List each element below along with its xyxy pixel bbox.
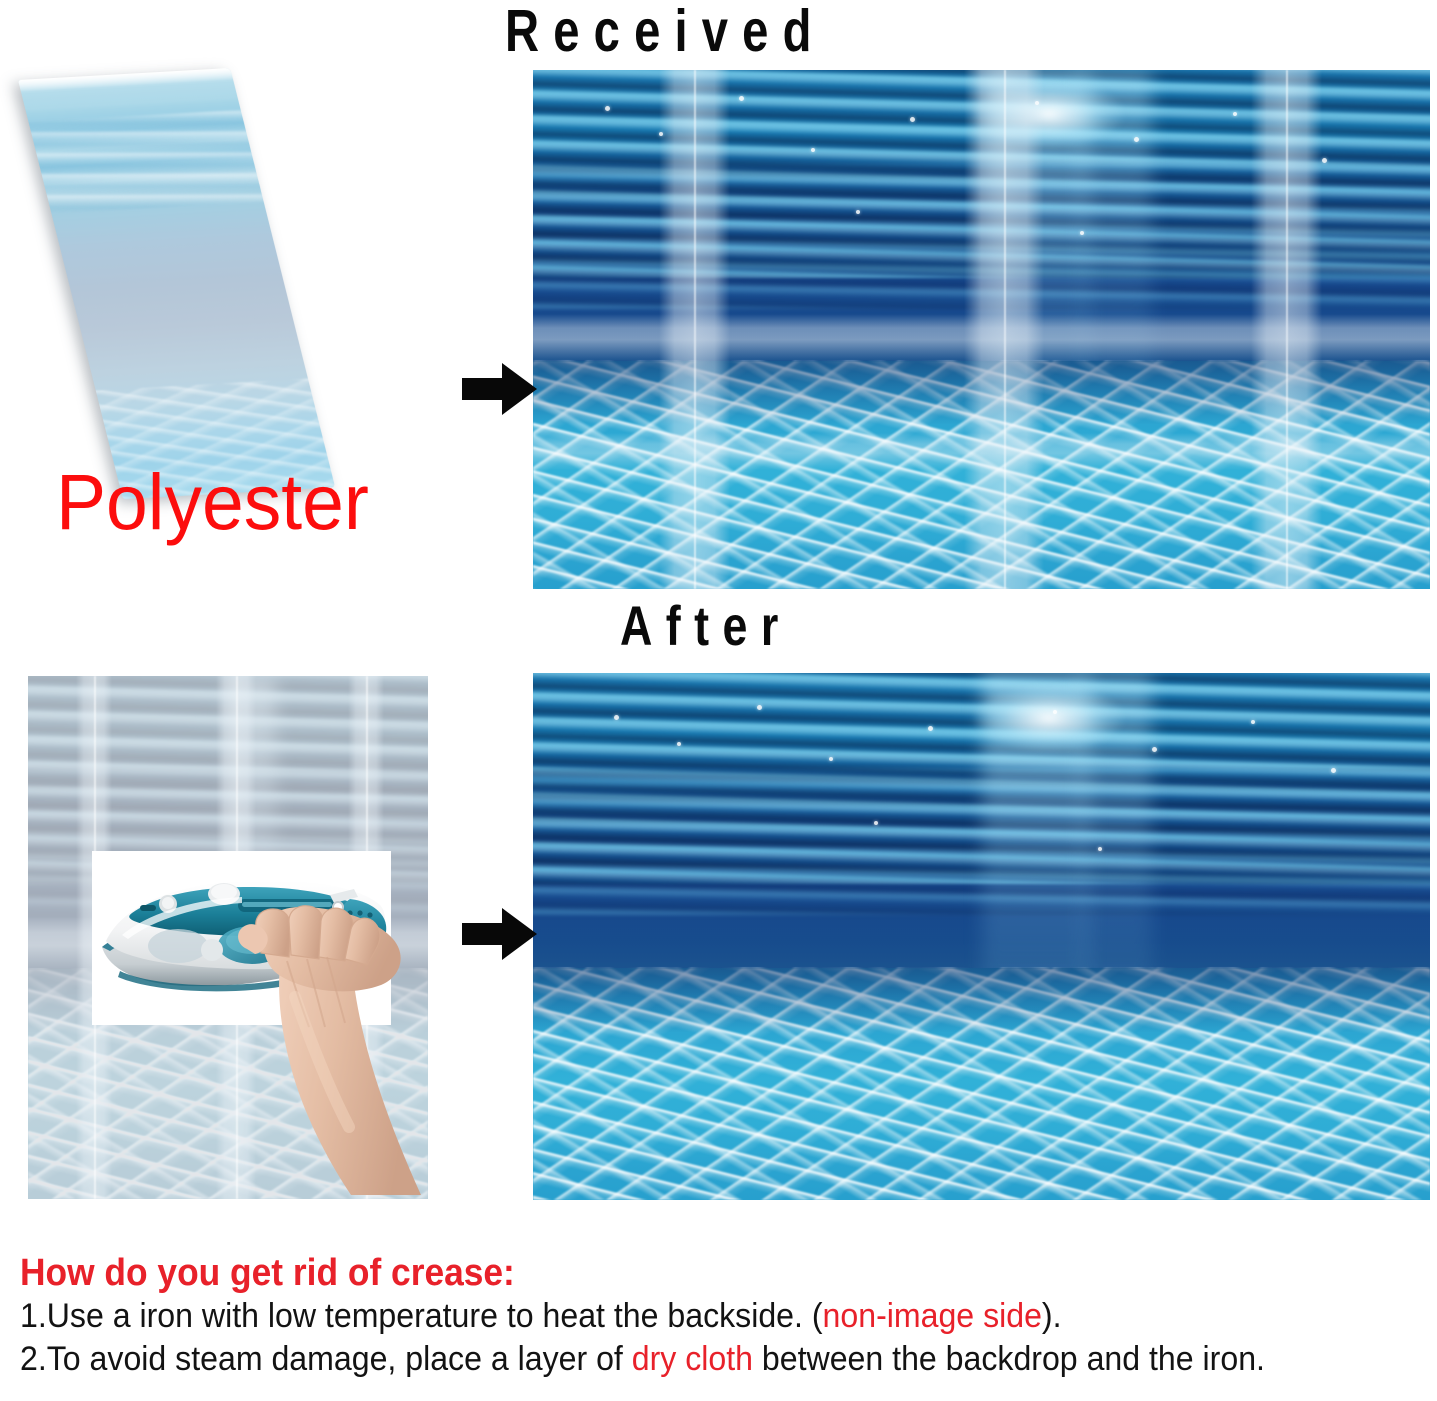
polyester-fabric-roll (18, 68, 335, 499)
received-section-title: Received (505, 2, 826, 61)
sun-glint (973, 684, 1125, 753)
instruction-line-1: 1.Use a iron with low temperature to hea… (20, 1295, 1331, 1338)
arrow-right-icon (462, 361, 537, 422)
instruction-2-highlight: dry cloth (632, 1340, 753, 1378)
instruction-2-text-a: 2.To avoid steam damage, place a layer o… (20, 1340, 632, 1378)
instruction-1-highlight: non-image side (823, 1297, 1042, 1335)
received-product-photo (533, 70, 1430, 589)
instruction-line-2: 2.To avoid steam damage, place a layer o… (20, 1338, 1331, 1381)
seabed (533, 968, 1430, 1200)
seabed (533, 361, 1430, 589)
after-section-title: After (620, 598, 792, 654)
instruction-1-text-a: 1.Use a iron with low temperature to hea… (20, 1297, 823, 1335)
instruction-2-text-b: between the backdrop and the iron. (753, 1340, 1265, 1378)
seabed-shadow (533, 361, 1430, 425)
material-label-polyester: Polyester (56, 462, 369, 541)
sun-glint (973, 80, 1125, 147)
underwater-scene (533, 673, 1430, 1200)
fabric-ripple-texture (18, 109, 285, 216)
hand-pressing-iron (225, 905, 455, 1200)
arrow-right-icon (462, 906, 537, 967)
care-instructions: How do you get rid of crease: 1.Use a ir… (20, 1252, 1430, 1381)
instruction-1-text-b: ). (1042, 1297, 1062, 1335)
seabed-shadow (533, 968, 1430, 1033)
instructions-heading: How do you get rid of crease: (20, 1252, 1331, 1295)
underwater-scene (533, 70, 1430, 589)
after-product-photo (533, 673, 1430, 1200)
